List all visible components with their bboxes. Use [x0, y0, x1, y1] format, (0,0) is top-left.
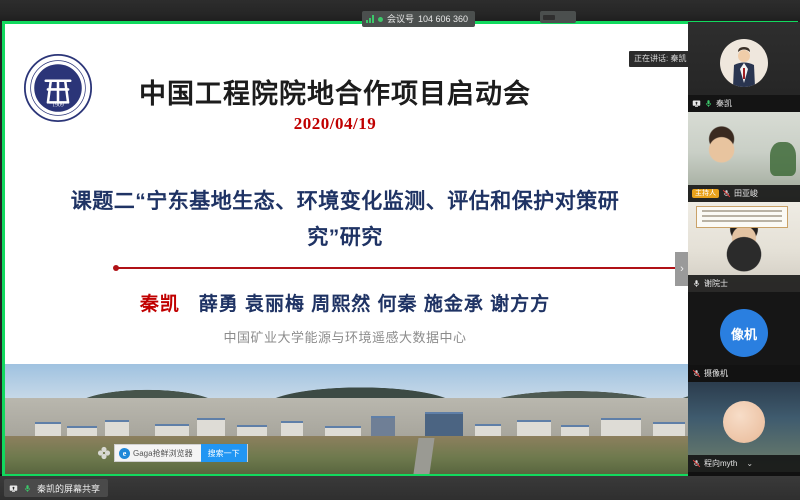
- zoom-meeting-window: 会议号 104 606 360 1909 中国工程院院地合作项目启动会 2020…: [0, 0, 800, 500]
- participant-name: 田亚峻: [734, 188, 758, 199]
- watermark-search-box: e Gaga抢鲜浏览器 搜索一下: [114, 444, 248, 462]
- screen-share-icon: [9, 484, 18, 493]
- campus-photo: e Gaga抢鲜浏览器 搜索一下: [5, 364, 795, 474]
- green-status-dot-icon: [378, 17, 383, 22]
- share-status-label: 秦凯的屏幕共享: [37, 482, 100, 495]
- speaking-indicator: 正在讲话: 秦凯: [629, 51, 691, 67]
- author-presenter: 秦凯: [140, 294, 180, 315]
- meeting-number-badge: 会议号 104 606 360: [362, 11, 475, 27]
- avatar: [720, 39, 768, 87]
- host-badge: 主持人: [692, 189, 719, 198]
- browser-watermark: e Gaga抢鲜浏览器 搜索一下: [97, 444, 248, 462]
- tile-caption: 主持人 田亚峻: [688, 185, 800, 202]
- participant-tile[interactable]: 像机 摄像机: [688, 292, 800, 382]
- mic-muted-icon: [692, 369, 701, 378]
- participant-tile[interactable]: 秦凯: [688, 22, 800, 112]
- participants-panel[interactable]: 秦凯 主持人 田亚峻: [688, 22, 800, 478]
- avatar: [723, 401, 765, 443]
- meeting-number-value: 104 606 360: [418, 11, 468, 27]
- participant-name: 摄像机: [704, 368, 728, 379]
- browser-e-icon: e: [119, 448, 130, 459]
- participant-name: 程向myth: [704, 458, 737, 469]
- mic-on-icon: [704, 99, 713, 108]
- watermark-label-wrap: e Gaga抢鲜浏览器: [115, 448, 201, 459]
- slide-title: 中国工程院院地合作项目启动会: [5, 72, 665, 111]
- shared-slide: 1909 中国工程院院地合作项目启动会 2020/04/19 课题二“宁东基地生…: [5, 24, 795, 474]
- chevron-down-icon[interactable]: ⌄: [746, 459, 753, 468]
- wall-frame-decor: [696, 206, 788, 228]
- mic-muted-icon: [692, 459, 701, 468]
- slide-subtitle: 课题二“宁东基地生态、环境变化监测、评估和保护对策研究”研究: [45, 184, 645, 256]
- slide-divider-arrow: [117, 267, 685, 269]
- participant-tile[interactable]: 主持人 田亚峻: [688, 112, 800, 202]
- tile-caption: 秦凯: [688, 95, 800, 112]
- slide-affiliation: 中国矿业大学能源与环境遥感大数据中心: [45, 327, 645, 346]
- taskbar: 秦凯的屏幕共享: [0, 476, 800, 500]
- top-toolbar-pill[interactable]: [540, 11, 576, 23]
- slide-date: 2020/04/19: [5, 114, 665, 134]
- participant-tile[interactable]: 谢院士: [688, 202, 800, 292]
- tile-caption: 谢院士: [688, 275, 800, 292]
- photo-buildings: [5, 394, 795, 442]
- panel-collapse-button[interactable]: ›: [675, 252, 689, 286]
- flower-icon: [97, 446, 111, 460]
- chevron-right-icon: ›: [680, 264, 684, 275]
- tile-caption: 程向myth ⌄: [688, 455, 800, 472]
- signal-bars-icon: [366, 15, 374, 23]
- mic-on-icon: [23, 484, 32, 493]
- participant-tile[interactable]: 程向myth ⌄: [688, 382, 800, 472]
- participant-name: 谢院士: [704, 278, 728, 289]
- author-list: 薛勇 袁丽梅 周熙然 何秦 施金承 谢方方: [199, 294, 550, 315]
- screen-share-status-chip[interactable]: 秦凯的屏幕共享: [4, 479, 108, 497]
- meeting-number-label: 会议号: [387, 11, 414, 27]
- person-illustration-icon: [727, 47, 761, 87]
- avatar: 像机: [720, 309, 768, 357]
- slide-authors: 秦凯 薛勇 袁丽梅 周熙然 何秦 施金承 谢方方: [45, 289, 645, 316]
- mic-muted-icon: [722, 189, 731, 198]
- participant-name: 秦凯: [716, 98, 732, 109]
- tile-caption: 摄像机: [688, 365, 800, 382]
- screen-share-icon: [692, 99, 701, 108]
- watermark-label: Gaga抢鲜浏览器: [133, 448, 193, 459]
- mic-muted-icon: [692, 279, 701, 288]
- watermark-search-button[interactable]: 搜索一下: [201, 444, 247, 462]
